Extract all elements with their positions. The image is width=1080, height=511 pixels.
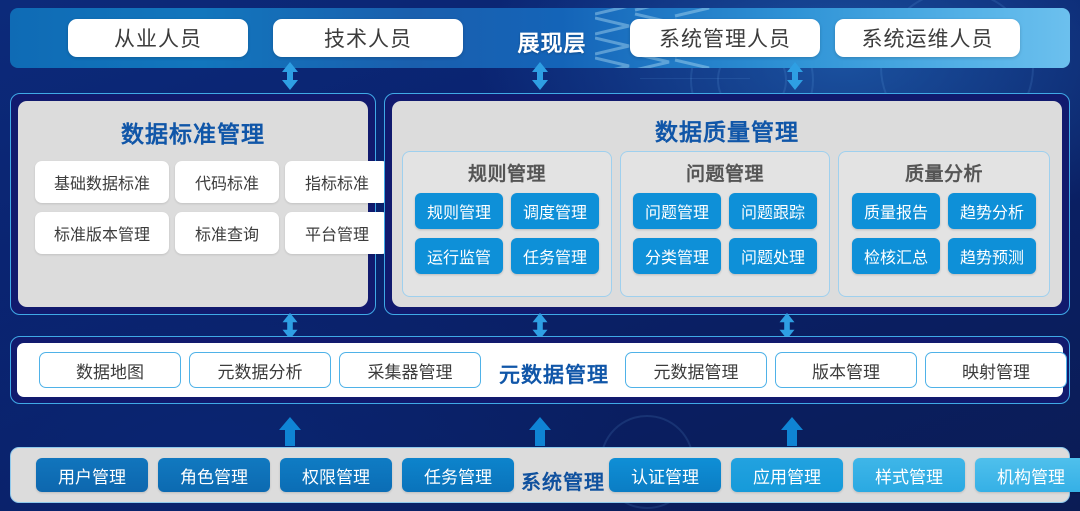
system-button-5[interactable]: 应用管理 — [731, 458, 843, 492]
standard-tag-2[interactable]: 指标标准 — [285, 161, 389, 203]
double-arrow-vertical-icon — [784, 61, 806, 91]
quality-button-rule-0[interactable]: 规则管理 — [415, 193, 503, 229]
quality-group-2: 质量分析 质量报告 趋势分析 检核汇总 趋势预测 — [838, 151, 1050, 297]
metadata-tag-5[interactable]: 映射管理 — [925, 352, 1067, 388]
system-button-7[interactable]: 机构管理 — [975, 458, 1080, 492]
quality-group-0: 规则管理 规则管理 调度管理 运行监管 任务管理 — [402, 151, 612, 297]
arrow-up-icon — [779, 416, 805, 446]
quality-button-analysis-0[interactable]: 质量报告 — [852, 193, 940, 229]
quality-group-2-title: 质量分析 — [839, 159, 1049, 186]
quality-group-0-title: 规则管理 — [403, 159, 611, 186]
quality-button-issue-2[interactable]: 分类管理 — [633, 238, 721, 274]
quality-button-analysis-2[interactable]: 检核汇总 — [852, 238, 940, 274]
double-arrow-vertical-icon — [279, 61, 301, 91]
presentation-layer-content: 从业人员 技术人员 展现层 系统管理人员 系统运维人员 — [10, 8, 1070, 68]
quality-group-1-title: 问题管理 — [621, 159, 829, 186]
standard-tag-0[interactable]: 基础数据标准 — [35, 161, 169, 203]
data-quality-title: 数据质量管理 — [392, 113, 1062, 147]
system-button-6[interactable]: 样式管理 — [853, 458, 965, 492]
quality-button-analysis-3[interactable]: 趋势预测 — [948, 238, 1036, 274]
standard-tag-1[interactable]: 代码标准 — [175, 161, 279, 203]
system-button-3[interactable]: 任务管理 — [402, 458, 514, 492]
arrow-up-icon — [527, 416, 553, 446]
system-row-label: 系统管理 — [499, 466, 627, 495]
background-line-decoration — [640, 78, 750, 79]
data-standard-panel: 数据标准管理 基础数据标准 代码标准 指标标准 标准版本管理 标准查询 平台管理 — [18, 101, 368, 307]
standard-tag-4[interactable]: 标准查询 — [175, 212, 279, 254]
data-standard-title: 数据标准管理 — [18, 115, 368, 149]
metadata-row: 数据地图 元数据分析 采集器管理 元数据管理 元数据管理 版本管理 映射管理 — [17, 343, 1063, 397]
quality-group-1: 问题管理 问题管理 问题跟踪 分类管理 问题处理 — [620, 151, 830, 297]
system-button-0[interactable]: 用户管理 — [36, 458, 148, 492]
role-pill-3[interactable]: 系统运维人员 — [835, 19, 1020, 57]
role-pill-1[interactable]: 技术人员 — [273, 19, 463, 57]
role-pill-0[interactable]: 从业人员 — [68, 19, 248, 57]
metadata-tag-0[interactable]: 数据地图 — [39, 352, 181, 388]
architecture-diagram: 从业人员 技术人员 展现层 系统管理人员 系统运维人员 数据标准管理 基础数据标… — [0, 0, 1080, 511]
arrow-up-icon — [277, 416, 303, 446]
metadata-row-label: 元数据管理 — [489, 359, 619, 389]
system-button-2[interactable]: 权限管理 — [280, 458, 392, 492]
role-pill-2[interactable]: 系统管理人员 — [630, 19, 820, 57]
metadata-tag-2[interactable]: 采集器管理 — [339, 352, 481, 388]
system-button-4[interactable]: 认证管理 — [609, 458, 721, 492]
metadata-tag-1[interactable]: 元数据分析 — [189, 352, 331, 388]
metadata-tag-4[interactable]: 版本管理 — [775, 352, 917, 388]
system-button-1[interactable]: 角色管理 — [158, 458, 270, 492]
quality-button-rule-3[interactable]: 任务管理 — [511, 238, 599, 274]
quality-button-issue-3[interactable]: 问题处理 — [729, 238, 817, 274]
quality-button-issue-1[interactable]: 问题跟踪 — [729, 193, 817, 229]
system-management-row: 用户管理 角色管理 权限管理 任务管理 系统管理 认证管理 应用管理 样式管理 … — [10, 447, 1070, 503]
quality-button-analysis-1[interactable]: 趋势分析 — [948, 193, 1036, 229]
quality-button-rule-2[interactable]: 运行监管 — [415, 238, 503, 274]
double-arrow-vertical-icon — [529, 61, 551, 91]
metadata-tag-3[interactable]: 元数据管理 — [625, 352, 767, 388]
standard-tag-3[interactable]: 标准版本管理 — [35, 212, 169, 254]
data-quality-panel: 数据质量管理 规则管理 规则管理 调度管理 运行监管 任务管理 问题管理 问题管… — [392, 101, 1062, 307]
quality-button-rule-1[interactable]: 调度管理 — [511, 193, 599, 229]
standard-tag-5[interactable]: 平台管理 — [285, 212, 389, 254]
quality-button-issue-0[interactable]: 问题管理 — [633, 193, 721, 229]
presentation-layer-label: 展现层 — [492, 26, 612, 58]
